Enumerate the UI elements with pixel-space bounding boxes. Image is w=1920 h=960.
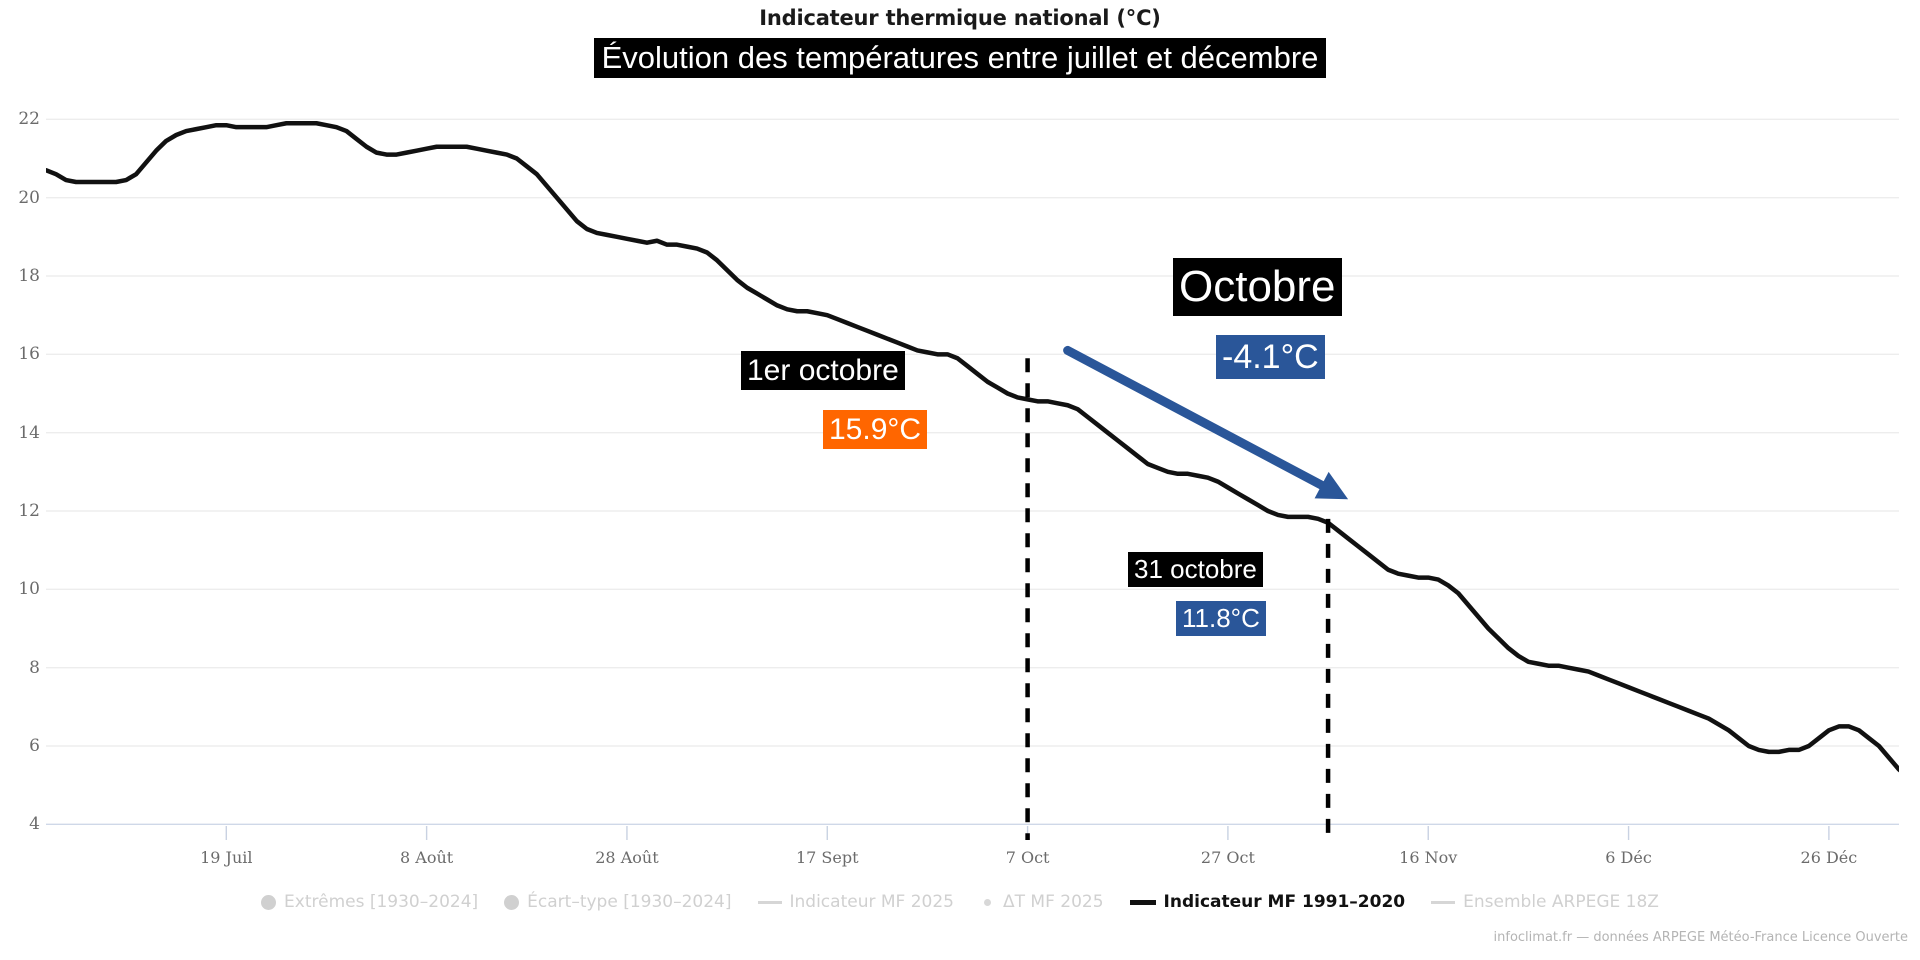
chart-plot-area — [46, 88, 1899, 840]
annotation-31-octobre-value-wrap: 11.8°C — [1176, 601, 1266, 636]
annotation-octobre-value-wrap: -4.1°C — [1216, 335, 1325, 379]
series-line-indicateur-mf-1991-2020 — [46, 123, 1899, 777]
y-tick-label: 4 — [0, 814, 40, 834]
legend-item-label: ΔT MF 2025 — [1003, 892, 1104, 912]
annotation-octobre-value: -4.1°C — [1216, 335, 1325, 379]
y-tick-label: 14 — [0, 423, 40, 443]
annotation-1er-octobre: 1er octobre — [741, 351, 905, 390]
y-axis: 46810121416182022 — [0, 88, 40, 840]
annotation-31-octobre-value: 11.8°C — [1176, 601, 1266, 636]
legend-item-label: Ensemble ARPEGE 18Z — [1463, 892, 1659, 912]
annotation-octobre: Octobre — [1173, 258, 1342, 316]
x-tick-label: 28 Août — [595, 848, 658, 867]
y-tick-label: 16 — [0, 344, 40, 364]
legend-item-label: Extrêmes [1930–2024] — [284, 892, 478, 912]
x-tick-label: 19 Juil — [200, 848, 252, 867]
legend-small-dot-icon — [984, 899, 991, 906]
gridlines — [46, 119, 1899, 824]
x-tick-label: 27 Oct — [1201, 848, 1255, 867]
legend-line-icon — [1431, 901, 1455, 904]
legend-dot-icon — [261, 895, 276, 910]
page-title: Indicateur thermique national (°C) — [0, 6, 1920, 30]
legend-bold-line-icon — [1130, 900, 1156, 905]
legend-item[interactable]: Indicateur MF 2025 — [758, 892, 954, 912]
legend-item-label: Indicateur MF 2025 — [790, 892, 954, 912]
annotation-1er-octobre-label: 1er octobre — [741, 351, 905, 390]
legend-item-label: Écart–type [1930–2024] — [527, 892, 731, 912]
x-tick-label: 26 Déc — [1801, 848, 1858, 867]
y-tick-label: 6 — [0, 736, 40, 756]
chart-legend: Extrêmes [1930–2024]Écart–type [1930–202… — [0, 892, 1920, 912]
x-tick-label: 17 Sept — [796, 848, 859, 867]
page-subtitle: Évolution des températures entre juillet… — [594, 38, 1327, 78]
annotation-31-octobre: 31 octobre — [1128, 552, 1263, 587]
x-tick-label: 16 Nov — [1399, 848, 1457, 867]
legend-item[interactable]: ΔT MF 2025 — [980, 892, 1104, 912]
y-tick-label: 12 — [0, 501, 40, 521]
legend-item[interactable]: Écart–type [1930–2024] — [504, 892, 731, 912]
y-tick-label: 22 — [0, 109, 40, 129]
page-subtitle-wrap: Évolution des températures entre juillet… — [0, 38, 1920, 78]
legend-item[interactable]: Indicateur MF 1991–2020 — [1130, 892, 1406, 912]
legend-item-label: Indicateur MF 1991–2020 — [1164, 892, 1406, 912]
x-tick-label: 8 Août — [400, 848, 453, 867]
legend-item[interactable]: Extrêmes [1930–2024] — [261, 892, 478, 912]
annotation-1er-octobre-value: 15.9°C — [823, 410, 927, 449]
legend-line-icon — [758, 901, 782, 904]
legend-item[interactable]: Ensemble ARPEGE 18Z — [1431, 892, 1659, 912]
temperature-line-chart — [46, 88, 1899, 840]
y-tick-label: 8 — [0, 658, 40, 678]
y-tick-label: 18 — [0, 266, 40, 286]
credit-text: infoclimat.fr — données ARPEGE Météo-Fra… — [1494, 930, 1908, 945]
y-tick-label: 20 — [0, 188, 40, 208]
annotation-octobre-label: Octobre — [1173, 258, 1342, 316]
legend-dot-icon — [504, 895, 519, 910]
x-tick-label: 7 Oct — [1006, 848, 1050, 867]
annotation-1er-octobre-value-wrap: 15.9°C — [823, 410, 927, 449]
annotation-31-octobre-label: 31 octobre — [1128, 552, 1263, 587]
y-tick-label: 10 — [0, 579, 40, 599]
vertical-marker-lines — [1028, 358, 1328, 840]
x-tick-label: 6 Déc — [1605, 848, 1652, 867]
